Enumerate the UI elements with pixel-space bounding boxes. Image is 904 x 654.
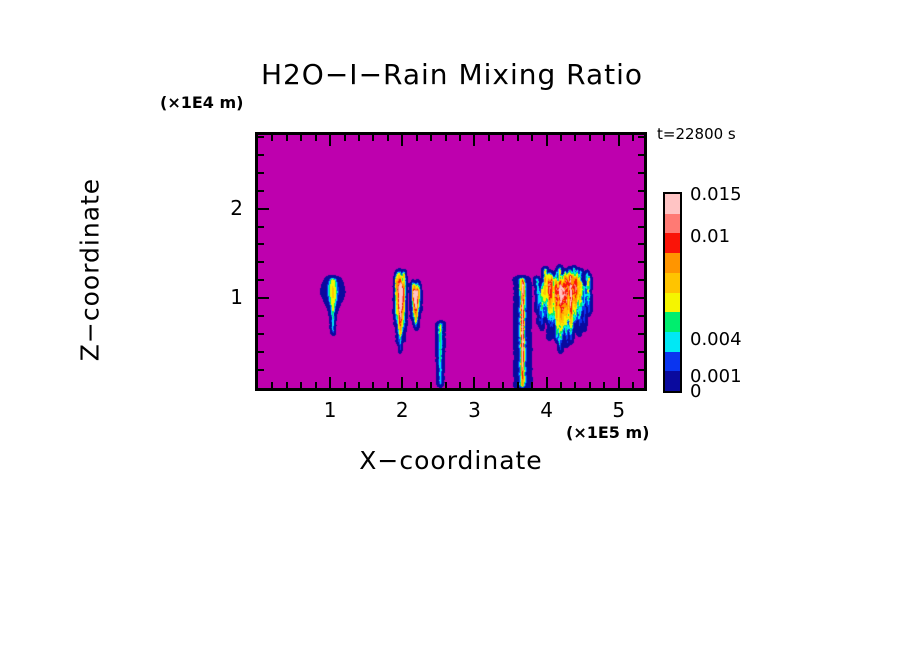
x-tick-2.8 <box>459 382 461 388</box>
x-tick-label-3: 3 <box>454 398 494 422</box>
x-tick-top-3.8 <box>531 135 533 141</box>
x-tick-top-4.6 <box>589 135 591 141</box>
colorbar-band-7 <box>665 332 680 352</box>
x-tick-1.2 <box>344 382 346 388</box>
plot-area <box>255 132 647 391</box>
y-tick-right-2.6 <box>638 154 644 156</box>
x-tick-2.4 <box>430 382 432 388</box>
x-tick-1.4 <box>358 382 360 388</box>
x-tick-top-0.2 <box>271 135 273 141</box>
y-tick-0.2 <box>258 369 264 371</box>
y-tick-2.6 <box>258 154 264 156</box>
x-tick-label-1: 1 <box>310 398 350 422</box>
x-tick-3.8 <box>531 382 533 388</box>
x-tick-5.2 <box>632 382 634 388</box>
y-tick-right-2.4 <box>638 172 644 174</box>
x-tick-0.2 <box>271 382 273 388</box>
y-tick-right-0.2 <box>638 369 644 371</box>
colorbar-band-3 <box>665 253 680 273</box>
y-tick-right-1 <box>633 297 644 299</box>
rain-field-heatmap <box>258 135 644 388</box>
x-tick-top-4.4 <box>574 135 576 141</box>
x-tick-4.2 <box>560 382 562 388</box>
y-tick-1.4 <box>258 261 264 263</box>
x-unit-label: (×1E5 m) <box>566 423 649 442</box>
x-tick-top-0.6 <box>300 135 302 141</box>
x-tick-1 <box>329 377 331 388</box>
colorbar <box>663 192 682 393</box>
x-tick-top-5.2 <box>632 135 634 141</box>
figure-root: H2O−I−Rain Mixing Ratio (×1E4 m) t=22800… <box>0 0 904 654</box>
colorbar-band-5 <box>665 293 680 313</box>
colorbar-band-1 <box>665 214 680 234</box>
colorbar-label-1: 0.01 <box>690 226 730 247</box>
x-tick-4.8 <box>603 382 605 388</box>
y-tick-1.2 <box>258 279 264 281</box>
x-tick-3.2 <box>488 382 490 388</box>
x-tick-top-3.2 <box>488 135 490 141</box>
colorbar-band-4 <box>665 273 680 293</box>
y-tick-right-1.2 <box>638 279 644 281</box>
x-tick-top-0.8 <box>315 135 317 141</box>
x-tick-1.6 <box>372 382 374 388</box>
x-tick-top-3.6 <box>517 135 519 141</box>
y-tick-right-1.6 <box>638 243 644 245</box>
colorbar-band-0 <box>665 194 680 214</box>
y-tick-1.6 <box>258 243 264 245</box>
x-tick-top-2.2 <box>416 135 418 141</box>
y-tick-right-1.8 <box>638 226 644 228</box>
y-tick-right-2 <box>633 208 644 210</box>
x-tick-top-1.2 <box>344 135 346 141</box>
x-tick-top-4.2 <box>560 135 562 141</box>
x-tick-top-1.4 <box>358 135 360 141</box>
x-tick-top-2.8 <box>459 135 461 141</box>
y-tick-1.8 <box>258 226 264 228</box>
x-tick-top-4 <box>546 135 548 146</box>
y-tick-label-1: 1 <box>203 285 243 309</box>
x-tick-label-4: 4 <box>527 398 567 422</box>
x-tick-1.8 <box>387 382 389 388</box>
y-axis-title: Z−coordinate <box>76 120 105 420</box>
time-annotation: t=22800 s <box>657 125 736 143</box>
x-tick-0.6 <box>300 382 302 388</box>
x-axis-title: X−coordinate <box>255 446 647 475</box>
x-tick-0.4 <box>286 382 288 388</box>
y-unit-label: (×1E4 m) <box>160 93 243 112</box>
x-tick-4.6 <box>589 382 591 388</box>
colorbar-label-0: 0.015 <box>690 184 742 205</box>
y-tick-0.8 <box>258 315 264 317</box>
x-tick-label-5: 5 <box>599 398 639 422</box>
colorbar-band-8 <box>665 352 680 372</box>
y-tick-0.4 <box>258 351 264 353</box>
x-tick-top-2.6 <box>445 135 447 141</box>
x-tick-3 <box>473 377 475 388</box>
x-tick-3.6 <box>517 382 519 388</box>
colorbar-band-2 <box>665 233 680 253</box>
y-tick-0.6 <box>258 333 264 335</box>
colorbar-label-4: 0 <box>690 381 701 402</box>
y-tick-right-0.4 <box>638 351 644 353</box>
y-tick-right-2.8 <box>638 136 644 138</box>
y-tick-2.2 <box>258 190 264 192</box>
x-tick-top-0.4 <box>286 135 288 141</box>
x-tick-top-4.8 <box>603 135 605 141</box>
x-tick-2.6 <box>445 382 447 388</box>
x-tick-top-5 <box>618 135 620 146</box>
y-tick-2.4 <box>258 172 264 174</box>
y-tick-right-0.8 <box>638 315 644 317</box>
y-tick-2 <box>258 208 269 210</box>
y-tick-1 <box>258 297 269 299</box>
x-tick-top-2 <box>401 135 403 146</box>
page-title: H2O−I−Rain Mixing Ratio <box>0 58 904 91</box>
x-tick-top-3 <box>473 135 475 146</box>
x-tick-4.4 <box>574 382 576 388</box>
y-tick-right-1.4 <box>638 261 644 263</box>
x-tick-top-1.8 <box>387 135 389 141</box>
x-tick-3.4 <box>502 382 504 388</box>
x-tick-top-2.4 <box>430 135 432 141</box>
x-tick-0.8 <box>315 382 317 388</box>
y-tick-right-0.6 <box>638 333 644 335</box>
x-tick-5 <box>618 377 620 388</box>
y-tick-right-2.2 <box>638 190 644 192</box>
colorbar-band-9 <box>665 371 680 391</box>
x-tick-top-1 <box>329 135 331 146</box>
x-tick-2.2 <box>416 382 418 388</box>
x-tick-top-1.6 <box>372 135 374 141</box>
colorbar-label-2: 0.004 <box>690 329 742 350</box>
x-tick-top-3.4 <box>502 135 504 141</box>
y-tick-2.8 <box>258 136 264 138</box>
x-tick-label-2: 2 <box>382 398 422 422</box>
x-tick-4 <box>546 377 548 388</box>
y-tick-label-2: 2 <box>203 196 243 220</box>
x-tick-2 <box>401 377 403 388</box>
colorbar-band-6 <box>665 312 680 332</box>
